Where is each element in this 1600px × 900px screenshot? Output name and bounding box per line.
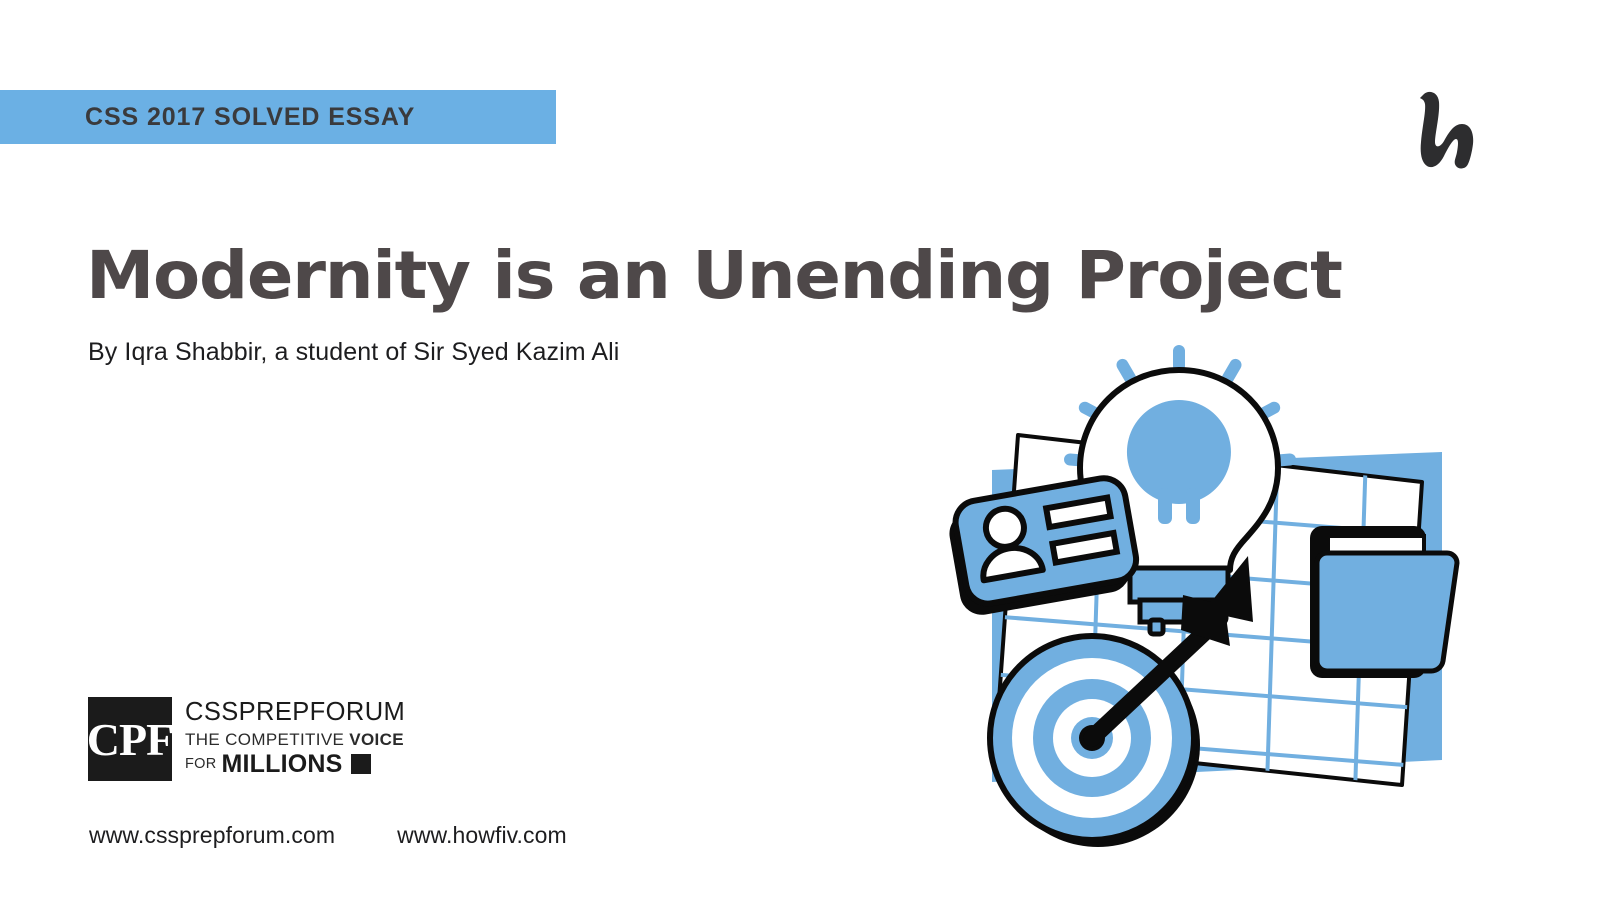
cpf-monogram-tile: CPF bbox=[88, 697, 172, 781]
cpf-monogram-text: CPF bbox=[87, 717, 173, 763]
footer-url-list: www.cssprepforum.com www.howfiv.com bbox=[89, 822, 567, 849]
cpf-tagline-line-2: FOR MILLIONS bbox=[185, 752, 405, 777]
footer-url-cssprepforum[interactable]: www.cssprepforum.com bbox=[89, 822, 335, 849]
howfiv-h-monogram-icon bbox=[1398, 86, 1490, 174]
poster-canvas: CSS 2017 SOLVED ESSAY Modernity is an Un… bbox=[0, 0, 1600, 900]
badge-band: CSS 2017 SOLVED ESSAY bbox=[0, 90, 556, 144]
badge-label: CSS 2017 SOLVED ESSAY bbox=[85, 103, 415, 132]
cpf-tagline-line-1-prefix: THE COMPETITIVE bbox=[185, 730, 349, 749]
footer-url-howfiv[interactable]: www.howfiv.com bbox=[397, 822, 567, 849]
cpf-tagline-line-1: THE COMPETITIVE VOICE bbox=[185, 729, 405, 751]
cpf-wordmark: CSSPREPFORUM THE COMPETITIVE VOICE FOR M… bbox=[185, 697, 405, 777]
page-title: Modernity is an Unending Project bbox=[86, 240, 1459, 311]
cpf-tagline-line-2-prefix: FOR bbox=[185, 757, 217, 772]
byline: By Iqra Shabbir, a student of Sir Syed K… bbox=[88, 338, 619, 367]
cpf-brand-name: CSSPREPFORUM bbox=[185, 698, 405, 727]
cpf-logo-square-icon bbox=[351, 754, 371, 774]
cpf-tagline-line-2-strong: MILLIONS bbox=[222, 752, 343, 777]
cpf-logo: CPF CSSPREPFORUM THE COMPETITIVE VOICE F… bbox=[88, 697, 405, 781]
hero-illustration bbox=[930, 330, 1475, 875]
cpf-tagline-line-1-strong: VOICE bbox=[349, 730, 404, 749]
